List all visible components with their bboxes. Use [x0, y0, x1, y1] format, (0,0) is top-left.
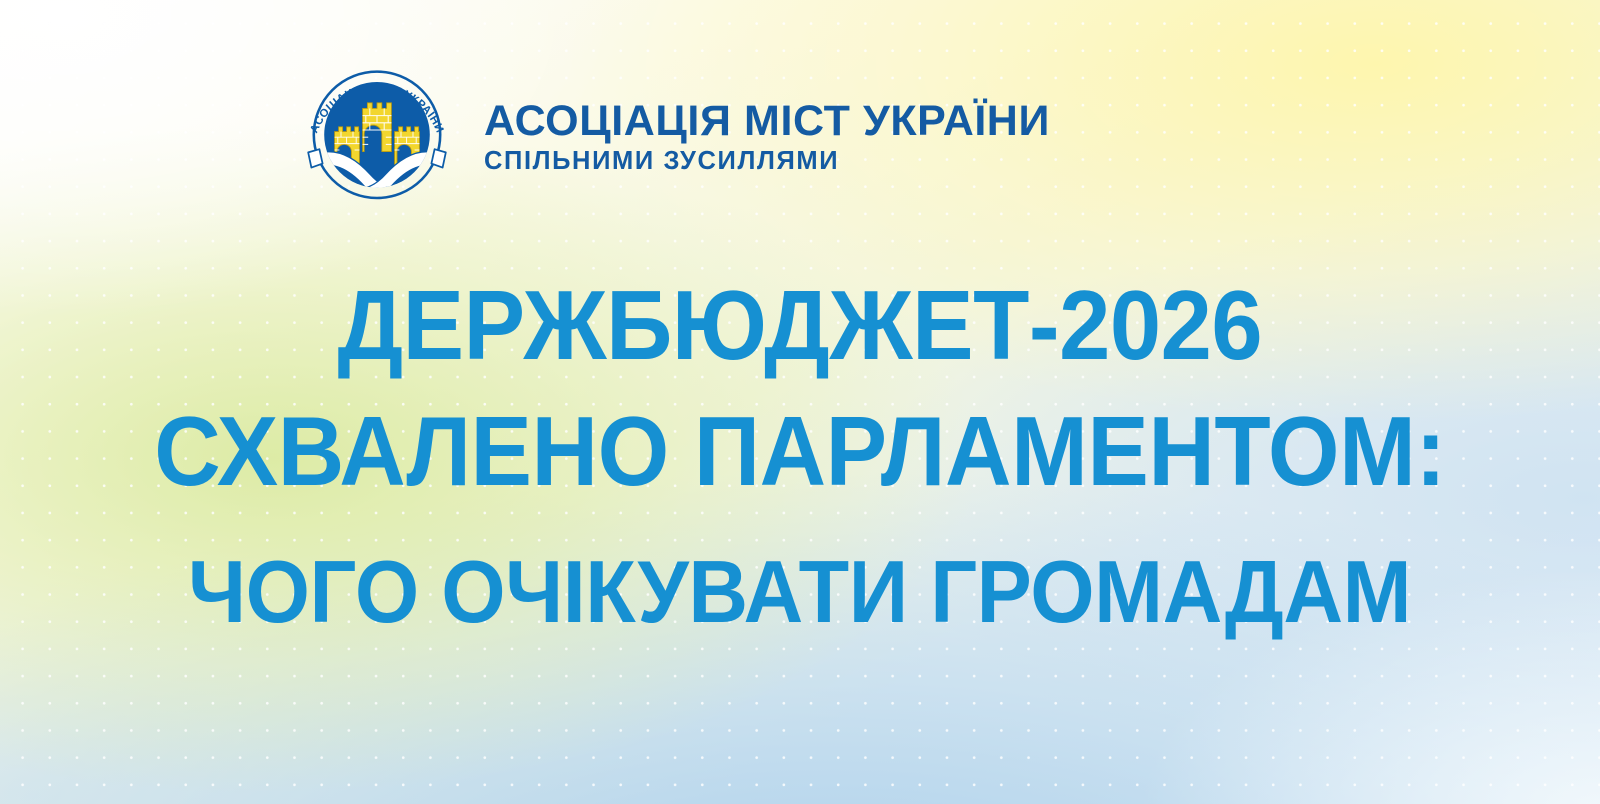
- headline-line-2: СХВАЛЕНО ПАРЛАМЕНТОМ:: [154, 402, 1445, 500]
- brand-lockup: АСОЦІАЦІЯ МІСТ УКРАЇНИ: [296, 58, 1050, 210]
- headline-line-1: ДЕРЖБЮДЖЕТ-2026: [338, 276, 1263, 374]
- brand-text-block: АСОЦІАЦІЯ МІСТ УКРАЇНИ СПІЛЬНИМИ ЗУСИЛЛЯ…: [484, 94, 1050, 175]
- headline-block: ДЕРЖБЮДЖЕТ-2026 СХВАЛЕНО ПАРЛАМЕНТОМ: ЧО…: [0, 276, 1600, 636]
- brand-tagline: СПІЛЬНИМИ ЗУСИЛЛЯМИ: [484, 149, 1050, 175]
- brand-name: АСОЦІАЦІЯ МІСТ УКРАЇНИ: [484, 100, 1050, 143]
- headline-line-3: ЧОГО ОЧІКУВАТИ ГРОМАДАМ: [188, 548, 1411, 636]
- amu-castle-emblem-icon: АСОЦІАЦІЯ МІСТ УКРАЇНИ: [296, 58, 458, 210]
- poster-canvas: АСОЦІАЦІЯ МІСТ УКРАЇНИ: [0, 0, 1600, 804]
